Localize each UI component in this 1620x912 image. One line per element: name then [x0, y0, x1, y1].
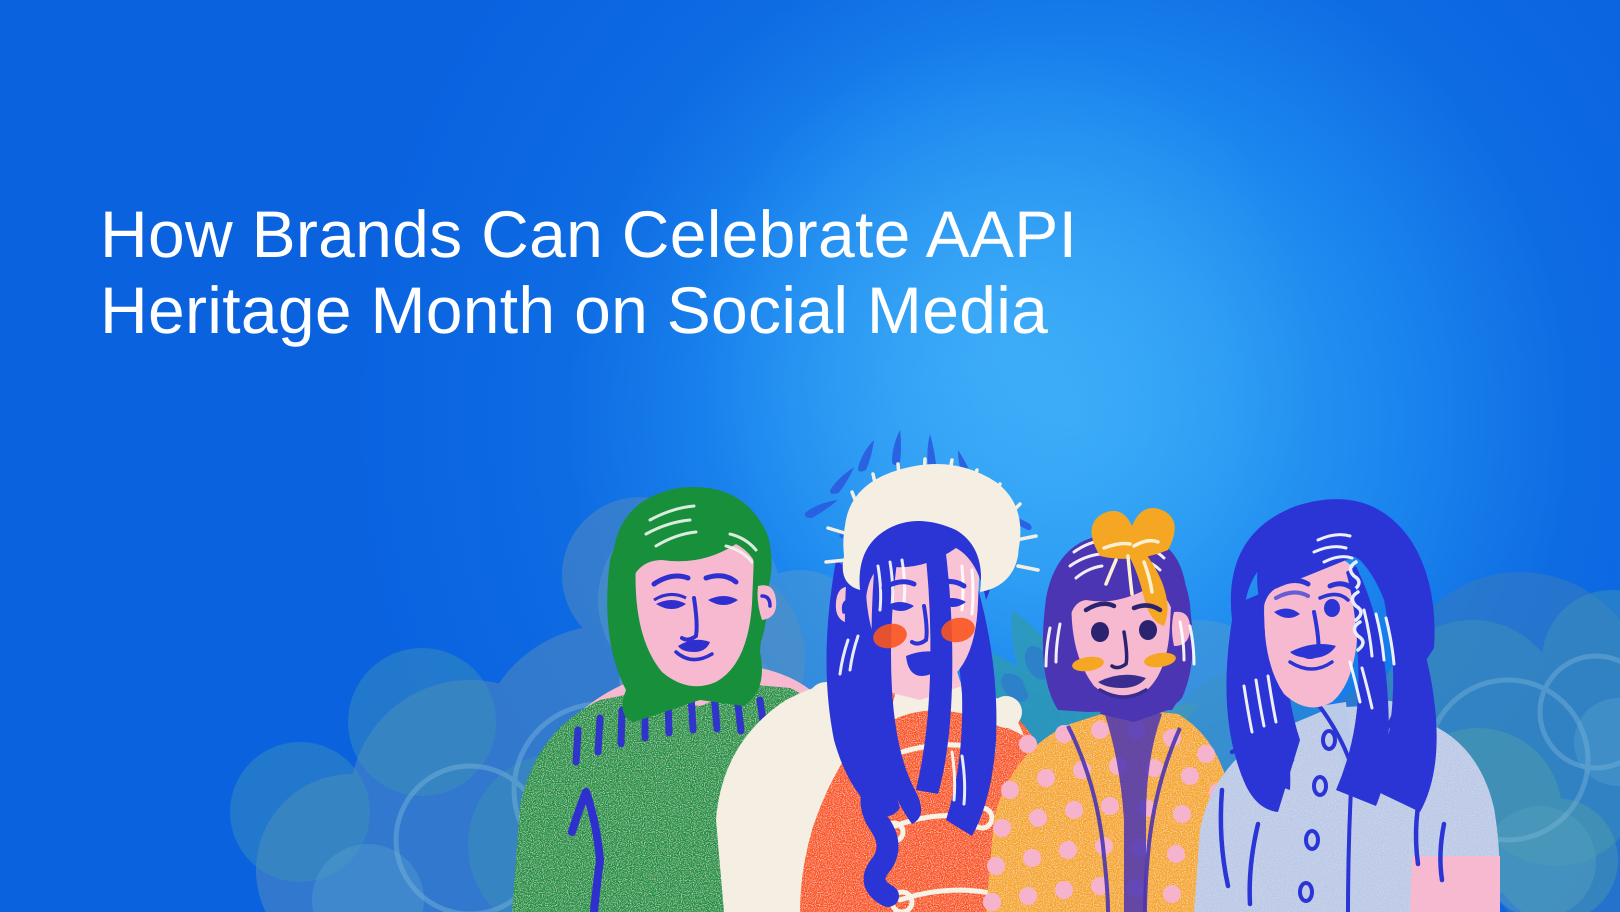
title-line-2: Heritage Month on Social Media [100, 272, 1280, 348]
illustration [0, 0, 1620, 912]
title-line-1: How Brands Can Celebrate AAPI [100, 196, 1280, 272]
page-title: How Brands Can Celebrate AAPI Heritage M… [100, 196, 1280, 348]
hero-banner: How Brands Can Celebrate AAPI Heritage M… [0, 0, 1620, 912]
